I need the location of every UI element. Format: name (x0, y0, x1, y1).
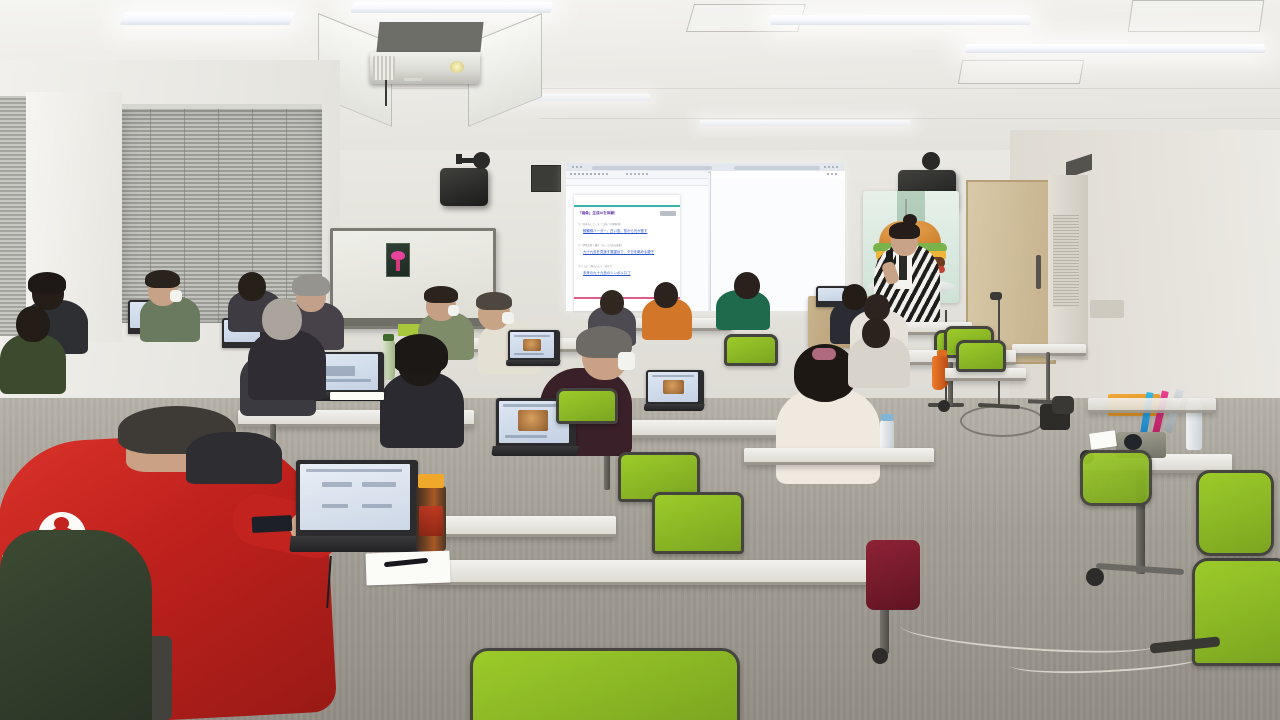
doc-item-caption: ③ さらに「地元らしさ」を足す (578, 264, 612, 268)
laptop[interactable] (318, 352, 384, 396)
doc-item-text: 九十九島を見渡す展望台で、夕日を眺める親子 (583, 249, 654, 254)
ceiling-access-panel (958, 60, 1084, 84)
chair[interactable] (556, 388, 618, 424)
ceiling-grid-line (540, 118, 1280, 119)
url-bar-left[interactable] (592, 166, 712, 170)
chair[interactable] (652, 492, 744, 554)
laptop-base[interactable] (491, 446, 578, 456)
paper-sheet (330, 392, 384, 400)
table-leg (1046, 352, 1050, 402)
laptop-base[interactable] (643, 404, 704, 411)
laptop-base[interactable] (289, 536, 423, 552)
doc-item-caption: ②「伊勢志摩」観光「らしさのある風景」 (578, 243, 623, 247)
url-bar-right[interactable] (734, 166, 820, 170)
notepad[interactable] (365, 551, 450, 586)
coiled-cable (960, 405, 1044, 437)
projector-vent (373, 56, 395, 80)
cabinet-vent-grille (1053, 215, 1079, 307)
browser-window-docs[interactable]: 「画像」生成AIを体験！ 送信 ①「日本らしさ」で「三越」「日本料理」 鮟鱇鍋バ… (566, 171, 708, 311)
bottle-cap (383, 334, 394, 341)
ceiling-access-panel (1128, 0, 1264, 32)
desk-front (416, 560, 912, 585)
whiteboard-poster (386, 243, 410, 277)
chair-foreground[interactable] (470, 648, 740, 720)
desk-right (1088, 398, 1216, 413)
smartphone[interactable] (252, 515, 293, 533)
laptop[interactable] (646, 370, 704, 408)
ceiling-light (965, 44, 1266, 53)
table-caster (1086, 568, 1104, 586)
chair[interactable] (724, 334, 778, 366)
projector-cable (385, 80, 387, 106)
wall-speaker-left (440, 168, 488, 206)
bottle-label (419, 506, 443, 536)
laptop-foreground[interactable] (296, 460, 418, 540)
mic-stand-clip (990, 292, 1002, 300)
chair[interactable] (956, 340, 1006, 372)
housing-rail (376, 22, 483, 52)
camera-equipment (1052, 396, 1074, 414)
whiteboard (330, 228, 496, 329)
desk-caster (938, 400, 950, 412)
ceiling-light (119, 12, 294, 25)
projector-lens (450, 61, 464, 73)
chair[interactable] (1080, 450, 1152, 506)
bottle-cap (418, 474, 444, 488)
chair-back-cushion (0, 530, 152, 720)
speaker-arm (462, 158, 476, 163)
doc-item-text: 鮟鱇鍋バーガー、白い皿、窓から光が差す (583, 228, 647, 233)
doc-heading: 「画像」生成AIを体験！ (578, 211, 618, 216)
projector-cable (404, 78, 422, 81)
laptop[interactable] (508, 330, 560, 364)
classroom-photo: 「画像」生成AIを体験！ 送信 ①「日本らしさ」で「三越」「日本料理」 鮟鱇鍋バ… (0, 0, 1280, 720)
docs-toolbar-row2[interactable] (566, 179, 708, 186)
drink-bottle[interactable] (932, 356, 945, 390)
presenter-hair-bun (903, 214, 917, 226)
ceiling-light (700, 120, 910, 126)
chair[interactable] (1192, 558, 1280, 666)
doc-item-caption: ①「日本らしさ」で「三越」「日本料理」 (578, 222, 622, 226)
desk-caster (872, 648, 888, 664)
doc-send-button[interactable] (660, 211, 676, 216)
door-handle[interactable] (1036, 255, 1041, 289)
speaker-mount (922, 152, 940, 170)
wall-fixture (1090, 300, 1124, 318)
hair-scrunchie (812, 348, 836, 360)
projection-screen: 「画像」生成AIを体験！ 送信 ①「日本らしさ」で「三越」「日本料理」 鮟鱇鍋バ… (566, 163, 844, 311)
speaker-arm (456, 154, 462, 164)
doc-divider (574, 205, 680, 207)
laptop-base[interactable] (505, 360, 560, 366)
ceiling-light (769, 15, 1030, 25)
window-blinds (0, 96, 26, 336)
handbag[interactable] (866, 540, 920, 610)
desk-row-1 (744, 448, 934, 465)
image-toolbar[interactable] (711, 171, 845, 178)
bottle-cap (881, 414, 893, 421)
blind-headrail (122, 104, 322, 109)
wall-control-panel[interactable] (531, 165, 561, 192)
doc-item-text: 未来の九十九島のシンボルロゴ (583, 270, 630, 275)
chair[interactable] (1196, 470, 1274, 556)
